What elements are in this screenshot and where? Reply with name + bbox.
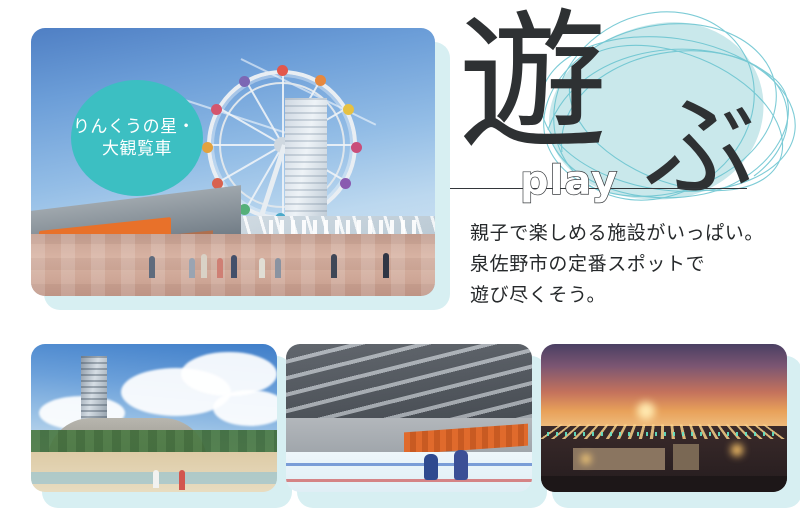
skating-mascot — [454, 450, 468, 480]
photo-card-ice-arena[interactable]: 関空アイス アリーナ — [286, 344, 532, 492]
hero-caption-line1: りんくうの星・ — [73, 116, 195, 138]
hero-caption-line2: 大観覧車 — [102, 138, 172, 160]
lead-line-2: 泉佐野市の定番スポットで — [470, 249, 800, 280]
lead-line-3: 遊び尽くそう。 — [470, 280, 800, 311]
title-block: 遊 ぶ play 親子で楽しめる施設がいっぱい。 泉佐野市の定番スポットで 遊び… — [448, 0, 800, 330]
lead-line-1: 親子で楽しめる施設がいっぱい。 — [470, 218, 800, 249]
lead-paragraph: 親子で楽しめる施設がいっぱい。 泉佐野市の定番スポットで 遊び尽くそう。 — [470, 218, 800, 310]
title-kanji: 遊 — [458, 8, 608, 158]
photo-card-sky-view[interactable]: 関空展望ホール スカイビュー — [541, 344, 787, 492]
hero-caption-badge[interactable]: りんくうの星・ 大観覧車 — [71, 80, 203, 196]
sunset-sky — [541, 344, 787, 430]
skating-mascot — [424, 454, 438, 480]
hero-photo-ferris-wheel[interactable]: りんくうの星・ 大観覧車 — [31, 28, 435, 296]
ice-surface — [286, 452, 532, 492]
photo-card-rinku-park[interactable]: りんくう 公園 — [31, 344, 277, 492]
poster-root: りんくうの星・ 大観覧車 遊 ぶ play 親子で楽しめる施設がいっぱい。 泉佐… — [0, 0, 800, 515]
taxiway-lights — [547, 432, 777, 436]
arena-roof-trusses — [286, 344, 532, 418]
title-romaji: play — [520, 158, 618, 204]
